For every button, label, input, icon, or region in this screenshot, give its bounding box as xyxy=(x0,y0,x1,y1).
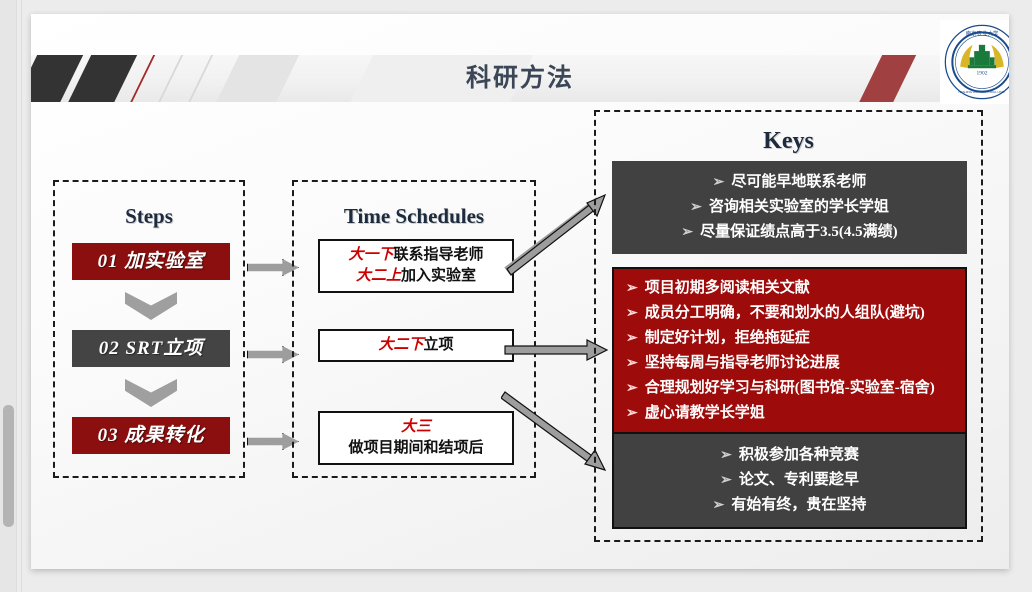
time-black-text: 加入实验室 xyxy=(401,268,476,284)
time-row: 大二下立项 xyxy=(320,335,512,356)
time-row: 大一下联系指导老师 xyxy=(320,245,512,266)
time-red-text: 大二上 xyxy=(356,268,401,284)
keys-bullet-text: 论文、专利要趁早 xyxy=(739,472,859,488)
page-title: 科研方法 xyxy=(31,55,1009,102)
svg-text:1902: 1902 xyxy=(977,70,988,76)
bullet-arrow-icon: ➢ xyxy=(626,281,638,296)
bullet-arrow-icon: ➢ xyxy=(626,356,638,371)
keys-bullet-text: 项目初期多阅读相关文献 xyxy=(645,280,810,296)
bullet-arrow-icon: ➢ xyxy=(681,225,693,240)
gutter-divider xyxy=(21,0,22,592)
bullet-arrow-icon: ➢ xyxy=(720,473,732,488)
keys-bullet-text: 坚持每周与指导老师讨论进展 xyxy=(645,355,840,371)
time-box-1[interactable]: 大一下联系指导老师 大二上加入实验室 xyxy=(318,239,514,293)
time-red-text: 大一下 xyxy=(348,247,393,263)
svg-text:NANJING AGRICULTURAL UNIV.: NANJING AGRICULTURAL UNIV. xyxy=(959,90,1006,94)
keys-bullet-line: ➢有始有终，贵在坚持 xyxy=(614,493,965,518)
bullet-arrow-icon: ➢ xyxy=(713,498,725,513)
keys-bullet-text: 虚心请教学长学姐 xyxy=(645,405,765,421)
keys-bullet-line: ➢坚持每周与指导老师讨论进展 xyxy=(614,351,965,376)
time-box-3[interactable]: 大三 做项目期间和结项后 xyxy=(318,411,514,465)
time-black-text: 立项 xyxy=(424,337,454,353)
keys-bullet-text: 成员分工明确，不要和划水的人组队(避坑) xyxy=(645,305,925,321)
time-schedules-heading: Time Schedules xyxy=(294,204,534,229)
time-black-text: 联系指导老师 xyxy=(394,247,484,263)
bullet-arrow-icon: ➢ xyxy=(626,331,638,346)
logo-seal-svg: 1902 南京农业大学 NANJING AGRICULTURAL UNIV. xyxy=(943,23,1009,101)
screenshot-viewport: 科研方法 1902 南京农业大学 NANJING AGRICULTURAL UN… xyxy=(0,0,1032,592)
keys-bullet-line: ➢积极参加各种竞赛 xyxy=(614,443,965,468)
bullet-arrow-icon: ➢ xyxy=(713,175,725,190)
keys-box-1: ➢尽可能早地联系老师 ➢咨询相关实验室的学长学姐 ➢尽量保证绩点高于3.5(4.… xyxy=(612,161,967,254)
time-row: 大三 xyxy=(320,417,512,438)
keys-bullet-line: ➢成员分工明确，不要和划水的人组队(避坑) xyxy=(614,301,965,326)
keys-bullet-line: ➢尽可能早地联系老师 xyxy=(612,170,967,195)
keys-bullet-text: 积极参加各种竞赛 xyxy=(739,447,859,463)
time-schedules-panel: Time Schedules 大一下联系指导老师 大二上加入实验室 大二下立项 … xyxy=(292,180,536,478)
time-row: 大二上加入实验室 xyxy=(320,266,512,287)
keys-bullet-line: ➢合理规划好学习与科研(图书馆-实验室-宿舍) xyxy=(614,376,965,401)
steps-heading: Steps xyxy=(55,204,243,229)
keys-bullet-line: ➢咨询相关实验室的学长学姐 xyxy=(612,195,967,220)
keys-box-3: ➢积极参加各种竞赛 ➢论文、专利要趁早 ➢有始有终，贵在坚持 xyxy=(612,432,967,529)
presentation-slide: 科研方法 1902 南京农业大学 NANJING AGRICULTURAL UN… xyxy=(31,14,1009,569)
step-chip-3[interactable]: 03 成果转化 xyxy=(72,417,230,454)
time-red-text: 大三 xyxy=(401,419,431,435)
bullet-arrow-icon: ➢ xyxy=(720,448,732,463)
keys-bullet-line: ➢制定好计划，拒绝拖延症 xyxy=(614,326,965,351)
step-chip-1[interactable]: 01 加实验室 xyxy=(72,243,230,280)
keys-box-2: ➢项目初期多阅读相关文献 ➢成员分工明确，不要和划水的人组队(避坑) ➢制定好计… xyxy=(612,267,967,435)
keys-heading: Keys xyxy=(596,128,981,155)
steps-panel: Steps 01 加实验室 02 SRT立项 03 成果转化 xyxy=(53,180,245,478)
chevron-down-icon-1 xyxy=(125,292,177,320)
time-red-text: 大二下 xyxy=(378,337,423,353)
keys-bullet-text: 咨询相关实验室的学长学姐 xyxy=(709,199,889,215)
chevron-down-icon-2 xyxy=(125,379,177,407)
nanjing-agricultural-university-logo: 1902 南京农业大学 NANJING AGRICULTURAL UNIV. xyxy=(940,20,1009,104)
step-chip-2[interactable]: 02 SRT立项 xyxy=(72,330,230,367)
keys-bullet-text: 制定好计划，拒绝拖延症 xyxy=(645,330,810,346)
bullet-arrow-icon: ➢ xyxy=(626,381,638,396)
keys-panel: Keys ➢尽可能早地联系老师 ➢咨询相关实验室的学长学姐 ➢尽量保证绩点高于3… xyxy=(594,110,983,542)
keys-bullet-line: ➢项目初期多阅读相关文献 xyxy=(614,276,965,301)
bullet-arrow-icon: ➢ xyxy=(626,306,638,321)
vertical-scrollbar-thumb[interactable] xyxy=(3,405,14,527)
keys-bullet-line: ➢论文、专利要趁早 xyxy=(614,468,965,493)
vertical-scrollbar-track[interactable] xyxy=(0,0,17,592)
keys-bullet-line: ➢虚心请教学长学姐 xyxy=(614,401,965,426)
time-black-text: 做项目期间和结项后 xyxy=(348,440,483,456)
keys-bullet-text: 合理规划好学习与科研(图书馆-实验室-宿舍) xyxy=(645,380,935,396)
keys-bullet-text: 尽可能早地联系老师 xyxy=(731,174,866,190)
keys-bullet-text: 有始有终，贵在坚持 xyxy=(731,497,866,513)
time-box-2[interactable]: 大二下立项 xyxy=(318,329,514,362)
bullet-arrow-icon: ➢ xyxy=(690,200,702,215)
keys-bullet-text: 尽量保证绩点高于3.5(4.5满绩) xyxy=(700,224,898,240)
bullet-arrow-icon: ➢ xyxy=(626,406,638,421)
time-row: 做项目期间和结项后 xyxy=(320,438,512,459)
keys-bullet-line: ➢尽量保证绩点高于3.5(4.5满绩) xyxy=(612,220,967,245)
